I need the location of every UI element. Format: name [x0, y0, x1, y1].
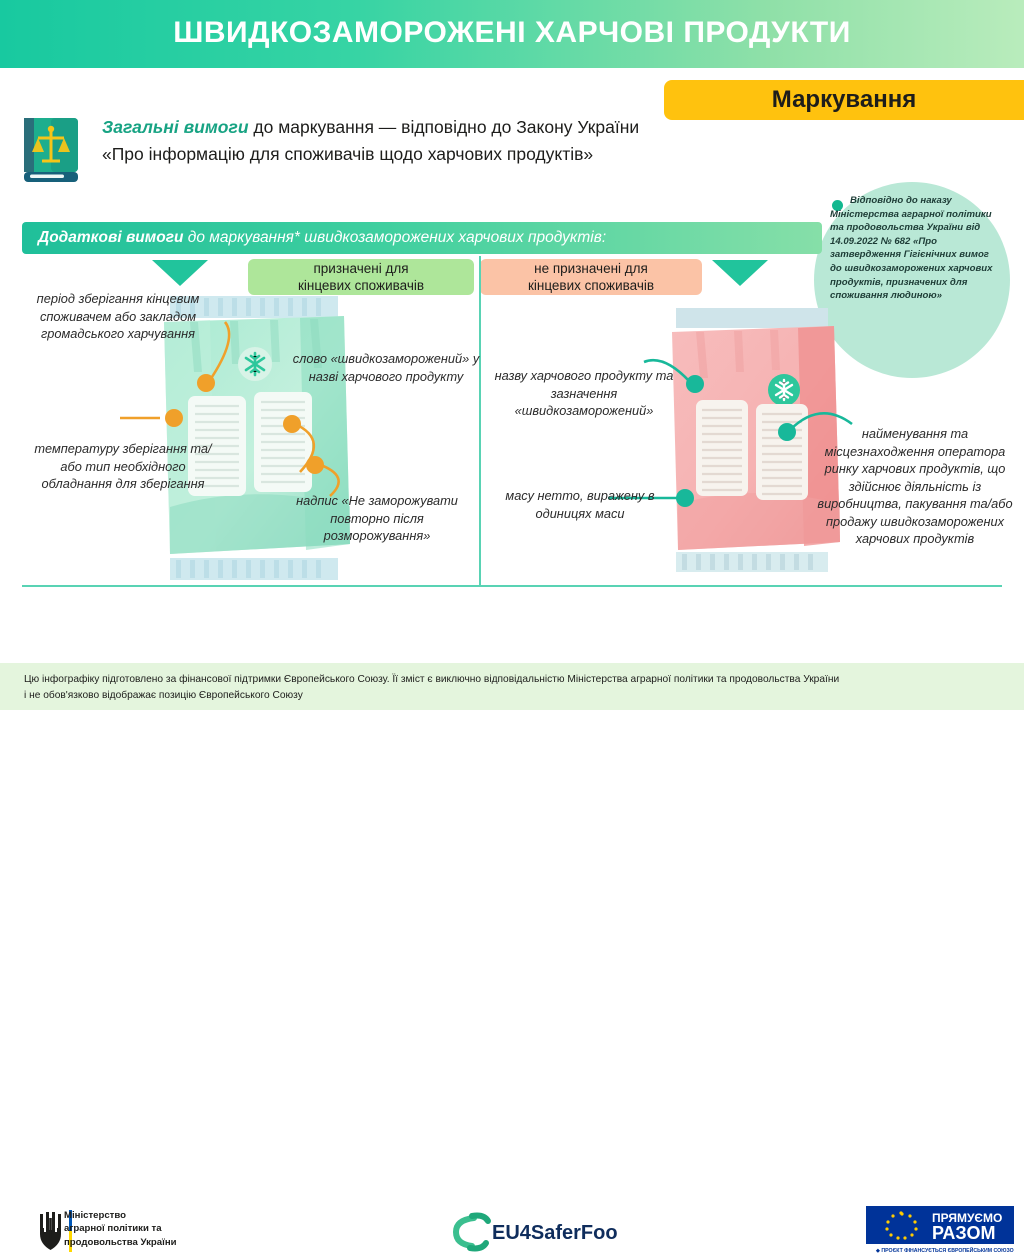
callout-right-net-weight: масу нетто, виражену в одиницях маси: [490, 487, 670, 522]
disclaimer-band: Цю інфографіку підготовлено за фінансово…: [0, 663, 1024, 710]
category-pill-consumers: призначені для кінцевих споживачів: [248, 259, 474, 295]
additional-requirements-text: Додаткові вимоги до маркування* швидкоза…: [38, 229, 606, 247]
ministry-name-line2: аграрної політики та: [64, 1222, 177, 1235]
additional-requirements-bar: Додаткові вимоги до маркування* швидкоза…: [22, 222, 822, 254]
disclaimer-text: Цю інфографіку підготовлено за фінансово…: [24, 672, 1004, 703]
callout-left-do-not-refreeze: надпис «Не заморожувати повторно після р…: [284, 492, 470, 545]
callout-left-storage-temperature: температуру зберігання та/або тип необхі…: [28, 440, 218, 493]
callout-right-product-name: назву харчового продукту та зазначення «…: [484, 367, 684, 420]
general-requirements-block: Загальні вимоги до маркування — відповід…: [20, 112, 840, 192]
additional-requirements-lead: Додаткові вимоги: [38, 229, 183, 246]
disclaimer-line1: Цю інфографіку підготовлено за фінансово…: [24, 674, 839, 685]
ministry-name-line1: Міністерство: [64, 1209, 177, 1222]
arrow-down-left-icon: [152, 260, 208, 286]
callout-left-word-quickfrozen: слово «швидкозаморожений» у назві харчов…: [286, 350, 486, 385]
disclaimer-line2: і не обов'язково відображає позицію Євро…: [24, 690, 303, 701]
category-label-line2: кінцевих споживачів: [528, 277, 654, 294]
general-requirements-text: Загальні вимоги до маркування — відповід…: [102, 114, 842, 168]
eu4saferfood-wordmark: EU4SaferFood: [492, 1222, 618, 1244]
section-tab-label: Маркування: [772, 86, 916, 114]
ministry-name-line3: продовольства України: [64, 1236, 177, 1249]
eu-logo-line2: РАЗОМ: [932, 1223, 995, 1243]
additional-requirements-rest: до маркування* швидкозаморожених харчови…: [183, 229, 606, 246]
callout-right-operator-name: найменування та місцезнаходження операто…: [812, 425, 1018, 548]
general-requirements-lead: Загальні вимоги: [102, 117, 249, 137]
category-label-line1: не призначені для: [534, 260, 648, 277]
order-reference-text: Відповідно до наказу Міністерства аграрн…: [830, 194, 998, 303]
panel-bottom-rule: [22, 585, 1002, 587]
general-requirements-law: «Про інформацію для споживачів щодо харч…: [102, 144, 593, 164]
panel-divider: [479, 256, 481, 586]
ministry-name: Міністерство аграрної політики та продов…: [64, 1209, 177, 1249]
arrow-down-right-icon: [712, 260, 768, 286]
general-requirements-rest: до маркування — відповідно до Закону Укр…: [249, 117, 640, 137]
law-book-icon: [20, 116, 82, 184]
category-pill-not-consumers: не призначені для кінцевих споживачів: [480, 259, 702, 295]
page-title: ШВИДКОЗАМОРОЖЕНІ ХАРЧОВІ ПРОДУКТИ: [0, 16, 1024, 50]
eu4saferfood-logo: EU4SaferFood: [448, 1210, 618, 1254]
eu-pryamuemo-razom-logo: ПРЯМУЄМО РАЗОМ ◆ ПРОЄКТ ФІНАНСУЄТЬСЯ ЄВР…: [866, 1206, 1014, 1254]
eu-logo-sub: ◆ ПРОЄКТ ФІНАНСУЄТЬСЯ ЄВРОПЕЙСЬКИМ СОЮЗО…: [875, 1246, 1014, 1254]
footer: Міністерство аграрної політики та продов…: [0, 596, 1024, 662]
callout-left-storage-period: період зберігання кінцевим споживачем аб…: [18, 290, 218, 343]
category-label-line1: призначені для: [313, 260, 408, 277]
infographic-page: ШВИДКОЗАМОРОЖЕНІ ХАРЧОВІ ПРОДУКТИ Маркув…: [0, 0, 1024, 710]
